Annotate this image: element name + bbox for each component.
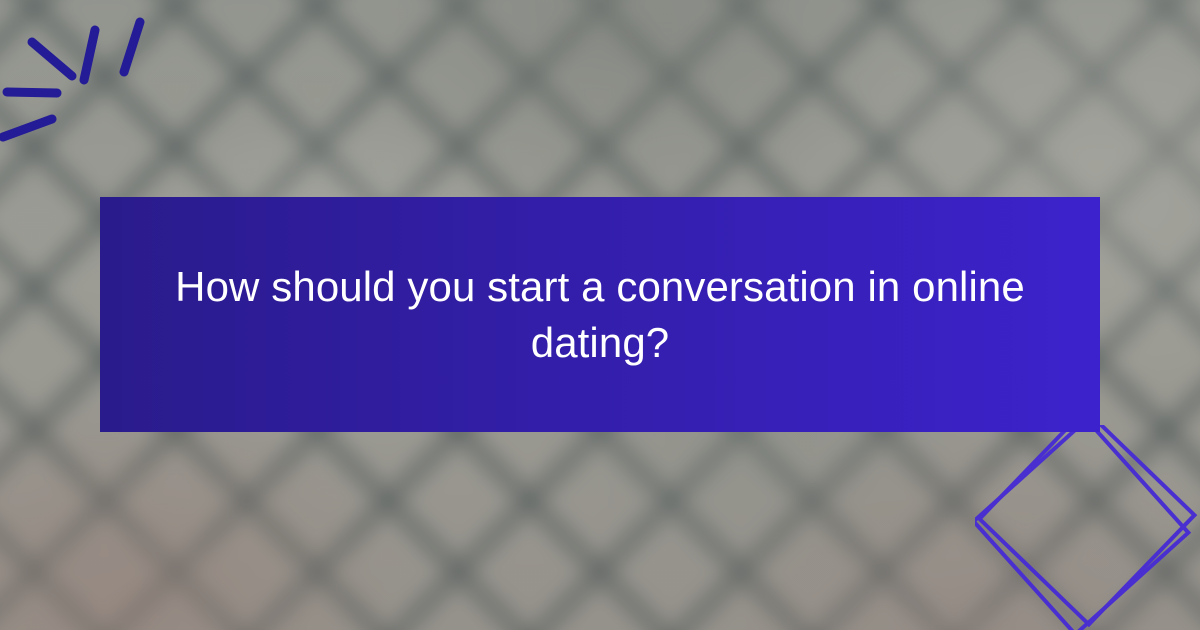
starburst-ray-3 bbox=[32, 42, 72, 76]
starburst-ray-4 bbox=[7, 92, 57, 93]
banner-card: How should you start a conversation in o… bbox=[0, 0, 1200, 630]
rotated-square-front bbox=[975, 425, 1188, 630]
rotated-squares-decoration bbox=[975, 425, 1200, 630]
headline-banner: How should you start a conversation in o… bbox=[100, 197, 1100, 432]
starburst-ray-5 bbox=[3, 119, 52, 137]
banner-title: How should you start a conversation in o… bbox=[158, 259, 1042, 371]
starburst-ray-1 bbox=[124, 22, 140, 72]
starburst-icon bbox=[0, 0, 200, 180]
starburst-ray-2 bbox=[84, 30, 95, 80]
rotated-square-back bbox=[980, 425, 1195, 624]
